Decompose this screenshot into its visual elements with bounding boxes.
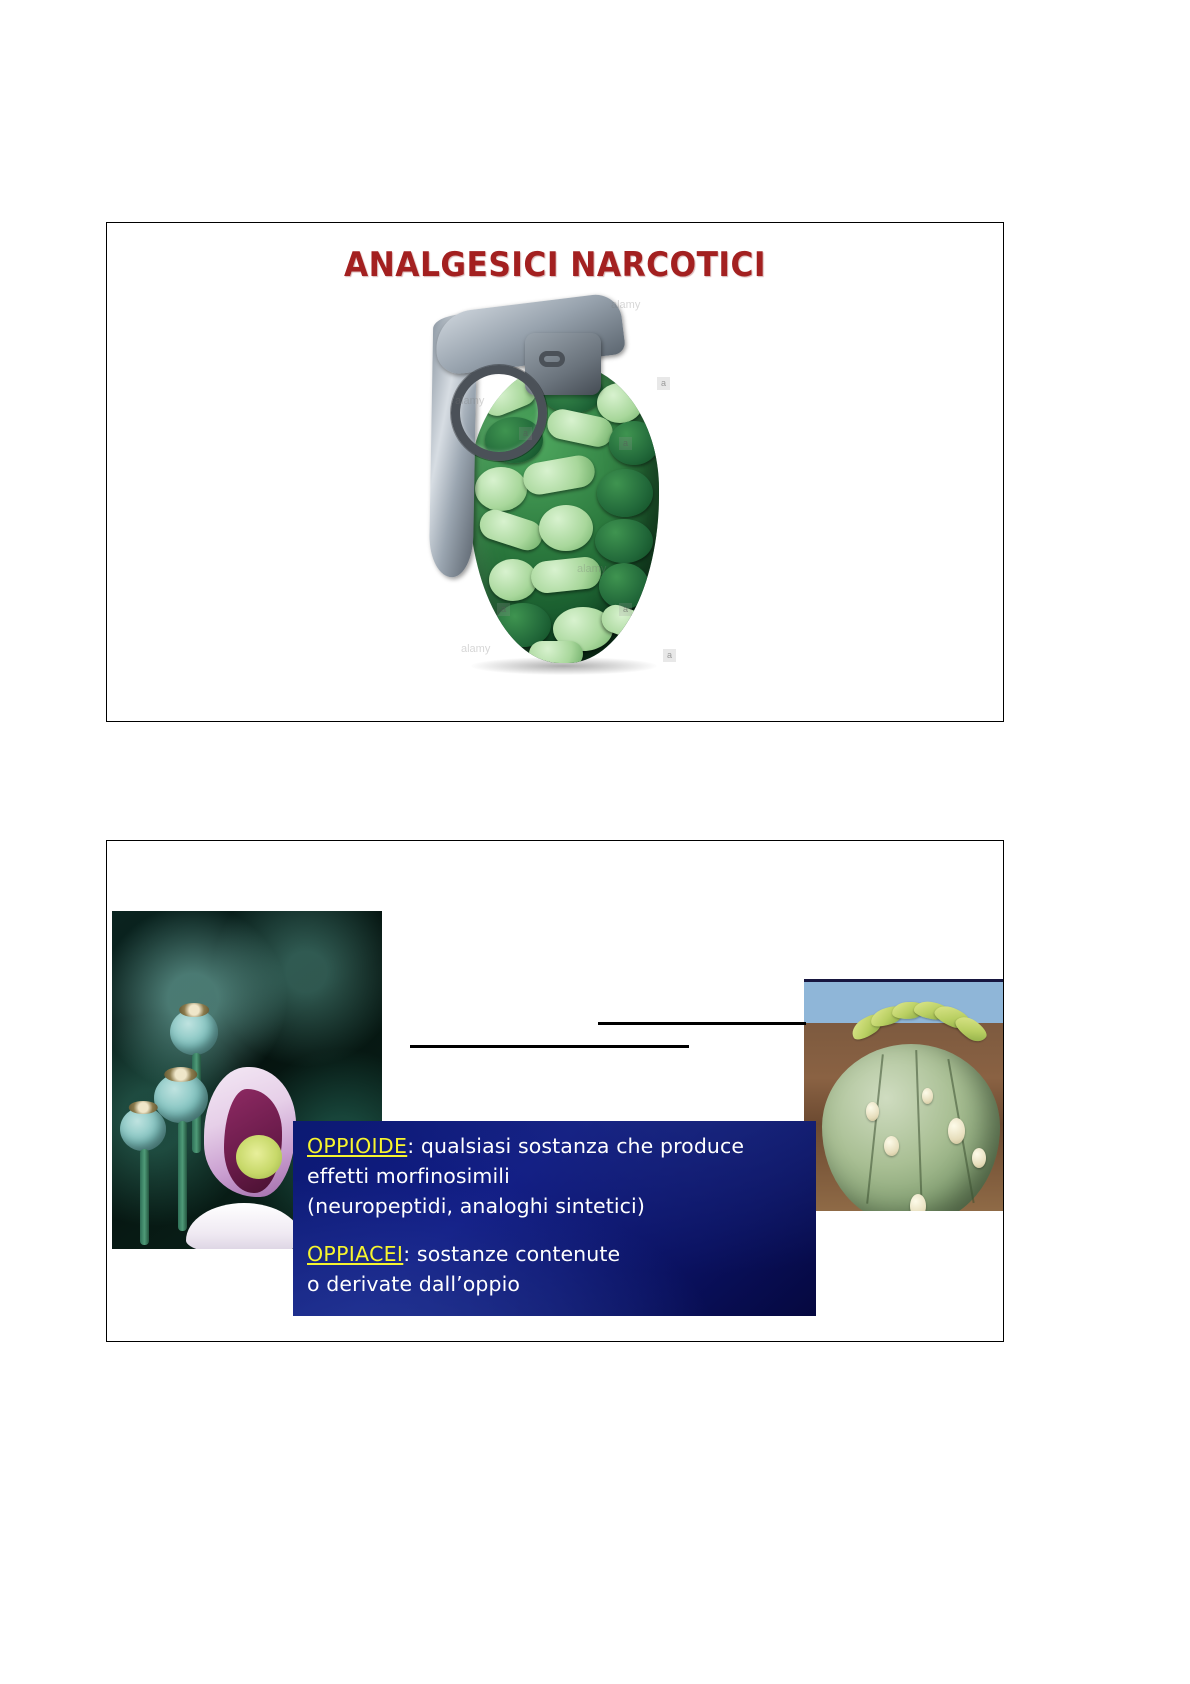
grenade-lever [413,303,553,593]
oppiacei-line-2: o derivate dall’oppio [307,1269,810,1299]
page-canvas: ANALGESICI NARCOTICI [0,0,1190,1684]
watermark-text: alamy [461,643,490,655]
watermark-badge: a [657,377,670,390]
oppioide-line-1: qualsiasi sostanza che produce [421,1134,744,1158]
watermark-badge: a [519,427,532,440]
rule-lower [410,1045,689,1048]
pill-grenade-image: alamy alamy alamy alamy a a a a a a [413,285,713,695]
watermark-badge: a [619,603,632,616]
oppioide-line-3: (neuropeptidi, analoghi sintetici) [307,1191,810,1221]
callout-spacer [307,1221,810,1239]
watermark-badge: a [663,649,676,662]
keyword-oppiacei: OPPIACEI [307,1242,403,1266]
grenade-ring-link [539,351,565,367]
poppy-capsule-body [822,1044,1000,1211]
watermark-badge: a [619,437,632,450]
oppiacei-line-1: sostanze contenute [417,1242,620,1266]
opium-capsule-photo [804,979,1004,1211]
definition-oppioide: OPPIOIDE: qualsiasi sostanza che produce… [307,1131,810,1221]
oppioide-line-2: effetti morfinosimili [307,1161,810,1191]
oppiacei-separator: : [403,1242,417,1266]
keyword-oppioide: OPPIOIDE [307,1134,407,1158]
page-title: ANALGESICI NARCOTICI [143,245,967,285]
watermark-badge: a [497,603,510,616]
definitions-callout: OPPIOIDE: qualsiasi sostanza che produce… [293,1121,816,1316]
definition-oppiacei: OPPIACEI: sostanze contenute o derivate … [307,1239,810,1299]
slide-oppioide-oppiacei: OPPIOIDE: qualsiasi sostanza che produce… [106,840,1004,1342]
oppioide-separator: : [407,1134,421,1158]
slide-analgesici-narcotici: ANALGESICI NARCOTICI [106,222,1004,722]
grenade-pull-ring [451,365,547,461]
rule-upper [598,1022,806,1025]
